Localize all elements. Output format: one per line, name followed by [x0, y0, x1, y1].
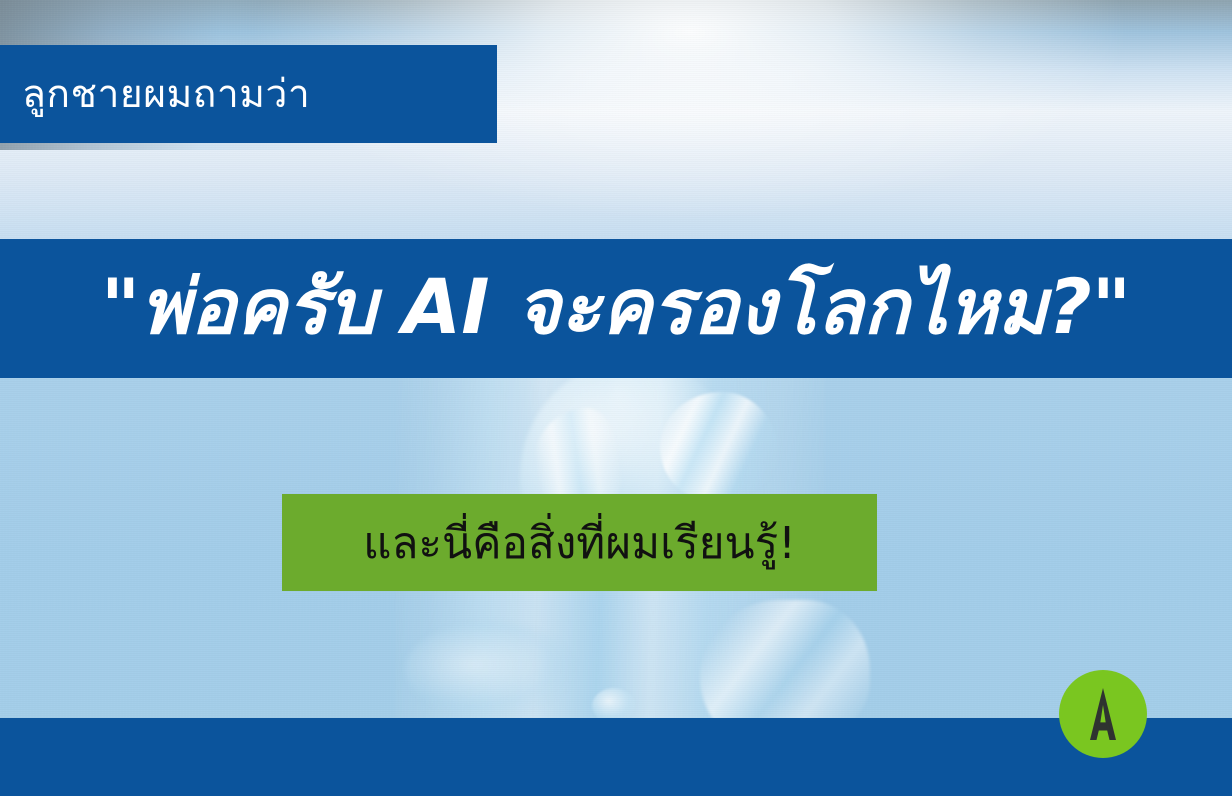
eyebrow-text: ลูกชายผมถามว่า: [0, 75, 310, 114]
subline-banner: และนี่คือสิ่งที่ผมเรียนรู้!: [282, 494, 877, 591]
background-glass-blob: [405, 622, 575, 717]
brand-a-logo-icon: [1072, 683, 1134, 745]
headline-banner: "พ่อครับ AI จะครองโลกไหม?": [0, 239, 1232, 378]
headline-text: "พ่อครับ AI จะครองโลกไหม?": [101, 269, 1132, 345]
footer-bar: [0, 718, 1232, 796]
eyebrow-banner: ลูกชายผมถามว่า: [0, 45, 497, 143]
brand-logo: [1059, 670, 1147, 758]
poster-canvas: ลูกชายผมถามว่า "พ่อครับ AI จะครองโลกไหม?…: [0, 0, 1232, 796]
subline-text: และนี่คือสิ่งที่ผมเรียนรู้!: [363, 522, 796, 566]
